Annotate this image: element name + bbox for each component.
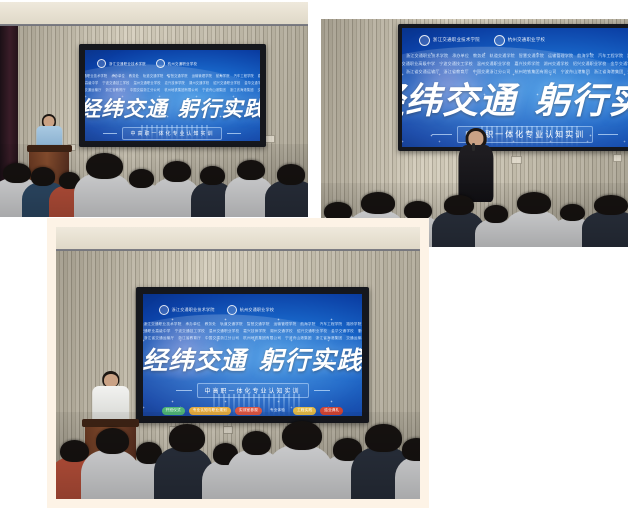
- audience-head: [517, 192, 551, 214]
- audience-head: [594, 195, 628, 215]
- audience: [0, 144, 308, 217]
- headline-right: 躬行实践: [534, 81, 628, 121]
- led-screen: 浙江交通职业技术学院 杭州交通职业学校 主办单位浙江交通职业技术学院承办单位教务…: [85, 50, 261, 141]
- auditorium-scene-3: 浙江交通职业技术学院 杭州交通职业学校 主办单位浙江交通职业技术学院承办单位教务…: [56, 227, 420, 499]
- audience-head: [282, 421, 322, 451]
- led-screen: 浙江交通职业技术学院 杭州交通职业学校 主办单位浙江交通职业技术学院承办单位教务…: [402, 28, 628, 148]
- led-screen-bezel[interactable]: 浙江交通职业技术学院 杭州交通职业学校 主办单位浙江交通职业技术学院承办单位教务…: [398, 24, 628, 152]
- rule-left: [176, 390, 192, 391]
- wall-plate: [265, 135, 275, 143]
- rule-left: [432, 134, 452, 135]
- logo-unit: 浙江交通职业技术学院: [159, 305, 215, 315]
- partner-row: 协办单位杭州市交通职业高级中学宁波交通技工学校温州交通职业学校嘉兴技师学院湖州交…: [85, 80, 261, 85]
- light-glow: [402, 56, 506, 111]
- audience-head: [3, 163, 31, 183]
- logo-label: 浙江交通职业技术学院: [109, 61, 146, 66]
- audience-head: [31, 167, 56, 186]
- audience-head: [96, 428, 129, 454]
- photo-top-left[interactable]: 浙江交通职业技术学院 杭州交通职业学校 主办单位浙江交通职业技术学院承办单位教务…: [0, 2, 308, 217]
- audience-body: [265, 180, 308, 217]
- screen-headline: 经纬交通躬行实践: [85, 99, 261, 120]
- audience-body: [582, 211, 628, 247]
- screen-content: 浙江交通职业技术学院 杭州交通职业学校 主办单位浙江交通职业技术学院承办单位教务…: [143, 294, 361, 415]
- screen-headline: 经纬交通躬行实践: [143, 349, 361, 374]
- screen-subtitle-wrap: 中高职一体化专业认知实训: [103, 127, 241, 140]
- audience-head: [60, 440, 89, 463]
- partner-row: 主办单位浙江交通职业技术学院承办单位教务处轨道交通学院智慧交通学院运输管理学院航…: [85, 73, 261, 78]
- rule-right: [227, 133, 241, 134]
- screen-subtitle: 中高职一体化专业认知实训: [122, 127, 222, 140]
- audience-head: [277, 164, 305, 184]
- auditorium-scene-2: 浙江交通职业技术学院 杭州交通职业学校 主办单位浙江交通职业技术学院承办单位教务…: [321, 19, 628, 247]
- school-crest-icon: [97, 59, 106, 68]
- partner-row: 协办单位杭州市交通职业高级中学宁波交通技工学校温州交通职业学校嘉兴技师学院湖州交…: [143, 329, 361, 334]
- city-skyline-graphic: [141, 125, 211, 141]
- school-crest-icon: [494, 35, 505, 46]
- head: [468, 131, 483, 145]
- partner-row: 协办单位杭州市交通职业高级中学宁波交通技工学校温州交通职业学校嘉兴技师学院湖州交…: [402, 61, 628, 67]
- rule-left: [103, 133, 117, 134]
- logo-label: 杭州交通职业学校: [240, 307, 274, 313]
- organizer-logos: 浙江交通职业技术学院 杭州交通职业学校: [402, 35, 628, 46]
- audience-head: [242, 431, 271, 455]
- wall-plate: [511, 156, 522, 164]
- led-screen: 浙江交通职业技术学院 杭州交通职业学校 主办单位浙江交通职业技术学院承办单位教务…: [143, 294, 361, 415]
- audience-head: [402, 438, 420, 461]
- logo-label: 杭州交通职业学校: [168, 61, 198, 66]
- ceiling: [0, 2, 308, 26]
- partner-unit-lines: 主办单位浙江交通职业技术学院承办单位教务处轨道交通学院智慧交通学院运输管理学院航…: [95, 73, 249, 92]
- light-glow: [85, 72, 159, 114]
- audience-head: [200, 166, 225, 185]
- audience: [56, 412, 420, 499]
- rule-right: [598, 134, 618, 135]
- headline-left: 经纬交通: [85, 97, 168, 121]
- partner-row: 支持单位浙江省交通运输厅浙江省教育厅中国交建浙江分公司杭州地铁集团有限公司宁波舟…: [85, 87, 261, 92]
- logo-label: 杭州交通职业学校: [508, 37, 546, 43]
- photo-top-right[interactable]: 浙江交通职业技术学院 杭州交通职业学校 主办单位浙江交通职业技术学院承办单位教务…: [321, 19, 628, 247]
- rule-right: [314, 390, 330, 391]
- audience-head: [237, 160, 265, 180]
- logo-label: 浙江交通职业技术学院: [172, 307, 215, 313]
- logo-unit: 杭州交通职业学校: [494, 35, 546, 46]
- photo-bottom[interactable]: 浙江交通职业技术学院 杭州交通职业学校 主办单位浙江交通职业技术学院承办单位教务…: [47, 218, 429, 508]
- screen-subtitle-wrap: 中高职一体化专业认知实训: [176, 383, 330, 398]
- logo-unit: 浙江交通职业技术学院: [419, 35, 480, 46]
- partner-row: 主办单位浙江交通职业技术学院承办单位教务处轨道交通学院智慧交通学院运输管理学院航…: [402, 53, 628, 59]
- led-screen-bezel[interactable]: 浙江交通职业技术学院 杭州交通职业学校 主办单位浙江交通职业技术学院承办单位教务…: [136, 287, 369, 423]
- microphone-icon: [472, 143, 475, 151]
- partner-row: 主办单位浙江交通职业技术学院承办单位教务处轨道交通学院智慧交通学院运输管理学院航…: [143, 322, 361, 327]
- wall-plate: [613, 154, 622, 162]
- auditorium-scene-1: 浙江交通职业技术学院 杭州交通职业学校 主办单位浙江交通职业技术学院承办单位教务…: [0, 2, 308, 217]
- school-crest-icon: [159, 305, 169, 315]
- led-screen-bezel[interactable]: 浙江交通职业技术学院 杭州交通职业学校 主办单位浙江交通职业技术学院承办单位教务…: [79, 44, 267, 147]
- audience-head: [169, 424, 205, 452]
- screen-content: 浙江交通职业技术学院 杭州交通职业学校 主办单位浙江交通职业技术学院承办单位教务…: [402, 28, 628, 148]
- audience-head: [484, 205, 509, 223]
- audience-head: [361, 192, 395, 214]
- partner-row: 支持单位浙江省交通运输厅浙江省教育厅中国交建浙江分公司杭州地铁集团有限公司宁波舟…: [402, 69, 628, 75]
- audience-head: [86, 153, 123, 179]
- logo-unit: 杭州交通职业学校: [156, 59, 198, 68]
- screen-content: 浙江交通职业技术学院 杭州交通职业学校 主办单位浙江交通职业技术学院承办单位教务…: [85, 50, 261, 141]
- logo-label: 浙江交通职业技术学院: [433, 37, 480, 43]
- light-glow: [143, 323, 235, 379]
- partner-row: 支持单位浙江省交通运输厅浙江省教育厅中国交建浙江分公司杭州地铁集团有限公司宁波舟…: [143, 336, 361, 341]
- school-crest-icon: [419, 35, 430, 46]
- organizer-logos: 浙江交通职业技术学院 杭州交通职业学校: [143, 305, 361, 315]
- logo-unit: 浙江交通职业技术学院: [97, 59, 146, 68]
- partner-unit-lines: 主办单位浙江交通职业技术学院承办单位教务处轨道交通学院智慧交通学院运输管理学院航…: [152, 322, 353, 341]
- audience-head: [129, 169, 154, 188]
- headline-right: 躬行实践: [177, 97, 260, 121]
- school-crest-icon: [227, 305, 237, 315]
- screen-subtitle: 中高职一体化专业认知实训: [197, 383, 309, 398]
- partner-unit-lines: 主办单位浙江交通职业技术学院承办单位教务处轨道交通学院智慧交通学院运输管理学院航…: [407, 53, 628, 75]
- headline-left: 经纬交通: [402, 81, 516, 121]
- school-crest-icon: [156, 59, 165, 68]
- audience-head: [163, 161, 191, 181]
- screen-headline: 经纬交通躬行实践: [402, 83, 628, 119]
- audience-head: [560, 204, 585, 222]
- audience-head: [444, 195, 475, 215]
- logo-unit: 杭州交通职业学校: [227, 305, 274, 315]
- organizer-logos: 浙江交通职业技术学院 杭州交通职业学校: [85, 59, 261, 68]
- headline-left: 经纬交通: [143, 348, 246, 375]
- audience-head: [365, 424, 401, 452]
- photo-bottom-image: 浙江交通职业技术学院 杭州交通职业学校 主办单位浙江交通职业技术学院承办单位教务…: [56, 227, 420, 499]
- headline-right: 躬行实践: [259, 348, 362, 375]
